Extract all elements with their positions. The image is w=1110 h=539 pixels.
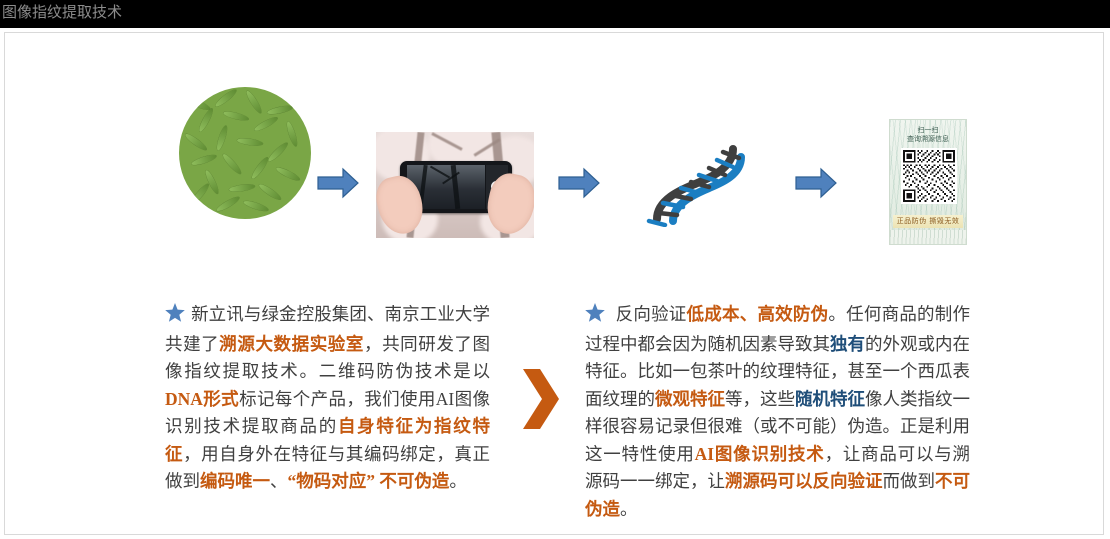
- text-segment-12: 而做到: [883, 471, 936, 491]
- text-segment-8: 、: [270, 471, 288, 491]
- text-segment-5: 微观特征: [655, 389, 725, 409]
- right-text-column: 反向验证低成本、高效防伪。任何商品的制作过程中都会因为随机因素导致其独有的外观或…: [585, 301, 970, 523]
- text-segment-7: 编码唯一: [200, 471, 270, 491]
- text-segment-9: AI图像识别技术: [695, 444, 825, 464]
- tea-leaves-photo: [171, 87, 319, 219]
- text-segment-1: 溯源大数据实验室: [219, 334, 364, 354]
- window-titlebar: 图像指纹提取技术: [0, 0, 1110, 28]
- dna-helix-icon: [643, 141, 747, 227]
- left-text-column: 新立讯与绿金控股集团、南京工业大学共建了溯源大数据实验室，共同研发了图像指纹提取…: [165, 301, 490, 496]
- window-title: 图像指纹提取技术: [2, 2, 122, 22]
- qr-title-line-1: 扫一扫: [890, 126, 966, 135]
- process-flow: 扫一扫 查询溯源信息: [5, 33, 1105, 243]
- text-segment-11: 溯源码可以反向验证: [725, 471, 883, 491]
- text-segment-11: 不可伪造: [379, 471, 449, 491]
- qr-label-title: 扫一扫 查询溯源信息: [890, 126, 966, 144]
- star-icon: [165, 303, 185, 331]
- text-segment-7: 随机特征: [795, 389, 865, 409]
- text-segment-14: 。: [620, 499, 638, 519]
- tea-leaves-pile: [179, 87, 311, 219]
- flow-arrow-1: [316, 166, 360, 200]
- text-segment-3: 独有: [830, 334, 865, 354]
- text-segment-1: 低成本、高效防伪: [687, 304, 829, 324]
- qr-label-footer: 正品防伪 撕毁无效: [893, 215, 963, 228]
- chevron-right-icon: [520, 365, 562, 433]
- label-tear-strip: [890, 230, 966, 244]
- slide-page: 扫一扫 查询溯源信息: [4, 32, 1104, 535]
- text-segment-12: 。: [449, 471, 467, 491]
- qr-code-icon: [901, 148, 957, 204]
- flow-arrow-3: [794, 166, 838, 200]
- text-segment-0: 反向验证: [611, 304, 687, 324]
- qr-title-line-2: 查询溯源信息: [890, 135, 966, 144]
- star-icon: [585, 303, 605, 331]
- right-paragraph: 反向验证低成本、高效防伪。任何商品的制作过程中都会因为随机因素导致其独有的外观或…: [585, 304, 970, 519]
- left-paragraph: 新立讯与绿金控股集团、南京工业大学共建了溯源大数据实验室，共同研发了图像指纹提取…: [165, 304, 490, 491]
- phone-camera-photo: [376, 132, 534, 238]
- qr-anticounterfeit-label: 扫一扫 查询溯源信息: [889, 119, 967, 245]
- text-segment-6: 等，这些: [725, 389, 795, 409]
- flow-arrow-2: [557, 166, 601, 200]
- text-segment-3: DNA形式: [165, 389, 239, 409]
- text-segment-9: “物码对应”: [288, 471, 376, 491]
